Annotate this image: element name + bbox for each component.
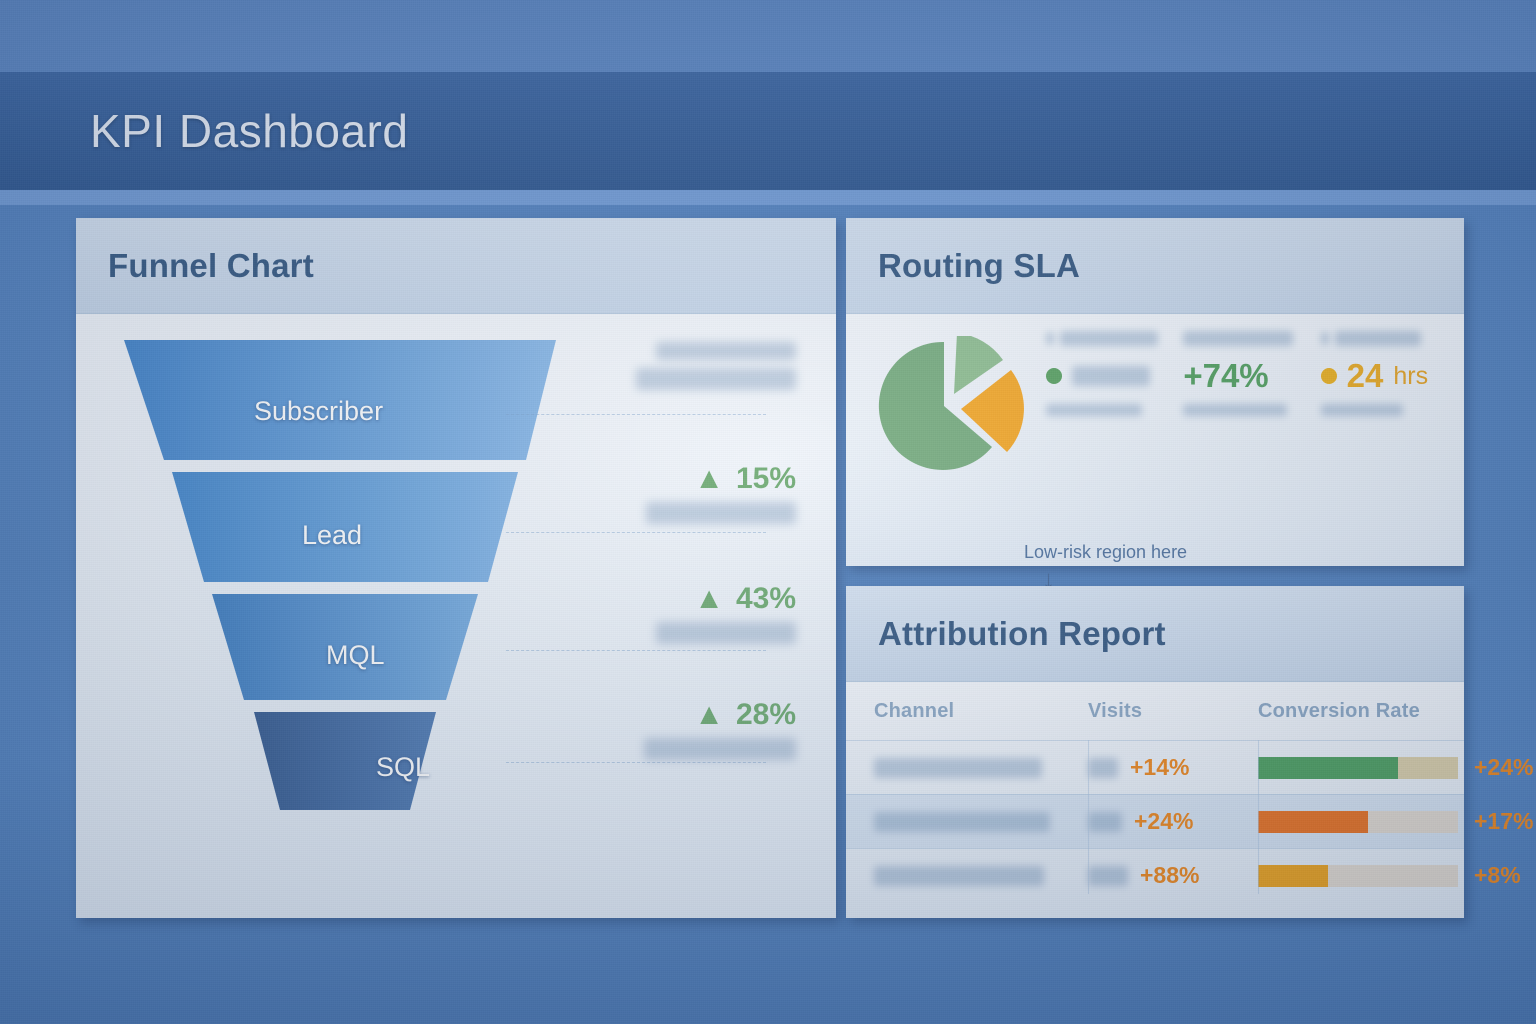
conversion-bar-track [1258,757,1458,779]
column-header-channel: Channel [874,700,1088,723]
leader-line-lead [506,532,766,533]
slide-canvas: KPI Dashboard Funnel Chart [0,0,1536,1024]
sla-panel-title: Routing SLA [878,247,1080,285]
visits-delta: +24% [1134,808,1193,835]
cell-conversion: +17% [1258,808,1533,835]
funnel-delta-value: 43% [736,582,796,616]
table-column-divider [1258,740,1259,894]
column-header-conversion: Conversion Rate [1258,700,1436,723]
funnel-delta-sql: ▲ 28% [496,698,796,732]
conversion-bar-fill [1258,757,1398,779]
cell-channel [874,758,1088,778]
attribution-table: Channel Visits Conversion Rate +14% [846,682,1464,902]
attribution-report-panel: Attribution Report Channel Visits Conver… [846,586,1464,918]
table-column-divider [1088,740,1089,894]
blurred-visits-count [1088,758,1118,778]
attribution-panel-title: Attribution Report [878,615,1166,653]
visits-delta: +14% [1130,754,1189,781]
leader-line-sql [506,762,766,763]
blurred-channel-name [874,812,1050,832]
conversion-delta: +8% [1474,862,1521,889]
routing-sla-panel: Routing SLA [846,218,1464,566]
blurred-metric-subtext [636,368,796,390]
funnel-segment-mql[interactable] [212,594,478,700]
sla-kpi-3: 24 hrs [1321,328,1446,416]
table-row[interactable]: +14% +24% [846,740,1464,794]
cell-visits: +14% [1088,754,1258,781]
status-dot-green-icon [1046,368,1062,384]
column-header-visits: Visits [1088,700,1258,723]
blurred-metric-text [656,342,796,360]
attribution-panel-body: Channel Visits Conversion Rate +14% [846,682,1464,918]
funnel-metric-lead: ▲ 15% [496,462,796,524]
funnel-panel-title: Funnel Chart [108,247,314,285]
blurred-metric-subtext [656,622,796,644]
funnel-delta-mql: ▲ 43% [496,582,796,616]
blurred-visits-count [1088,812,1122,832]
conversion-bar-fill [1258,811,1368,833]
visits-delta: +88% [1140,862,1199,889]
blurred-metric-subtext [644,738,796,760]
funnel-segment-sql[interactable] [254,712,436,810]
conversion-delta: +24% [1474,754,1533,781]
sla-kpi-1 [1046,328,1171,416]
blurred-kpi-label [1183,331,1293,346]
cell-conversion: +24% [1258,754,1533,781]
conversion-bar-fill [1258,865,1328,887]
blurred-channel-name [874,866,1044,886]
funnel-segment-subscriber[interactable] [124,340,556,460]
table-row[interactable]: +24% +17% [846,794,1464,848]
blurred-visits-count [1088,866,1128,886]
low-risk-annotation: Low-risk region here [1024,542,1187,563]
funnel-delta-lead: ▲ 15% [496,462,796,496]
blurred-kpi-caption [1046,404,1142,416]
sla-kpi-value-hours: 24 [1347,357,1384,395]
blurred-metric-subtext [646,502,796,524]
attribution-panel-header: Attribution Report [846,586,1464,682]
cell-conversion: +8% [1258,862,1521,889]
blurred-kpi-value [1072,366,1150,386]
leader-line-subscriber [506,414,766,415]
cell-visits: +88% [1088,862,1258,889]
blurred-kpi-label [1335,331,1421,346]
blurred-channel-name [874,758,1042,778]
sla-panel-header: Routing SLA [846,218,1464,314]
blurred-kpi-caption [1183,404,1287,416]
leader-line-mql [506,650,766,651]
sla-kpi-value-delta: +74% [1183,357,1268,395]
sla-kpi-2: +74% [1183,328,1308,416]
sla-kpi-unit: hrs [1393,362,1428,391]
arrow-up-icon: ▲ [694,582,724,616]
arrow-up-icon: ▲ [694,462,724,496]
conversion-bar-track [1258,865,1458,887]
funnel-metric-mql: ▲ 43% [496,582,796,644]
funnel-delta-value: 28% [736,698,796,732]
blurred-kpi-caption [1321,404,1403,416]
blurred-kpi-prefix [1046,332,1054,345]
table-row[interactable]: +88% +8% [846,848,1464,902]
blurred-kpi-prefix [1321,332,1329,345]
funnel-segment-lead[interactable] [172,472,518,582]
funnel-panel-body: Subscriber Lead MQL SQL ▲ 15% [76,314,836,918]
arrow-up-icon: ▲ [694,698,724,732]
blurred-kpi-label [1060,331,1158,346]
cell-channel [874,866,1088,886]
sla-panel-body: +74% 24 hrs Low-r [846,314,1464,566]
table-header-row: Channel Visits Conversion Rate [846,682,1464,740]
funnel-metric-sql: ▲ 28% [496,698,796,760]
conversion-bar-track [1258,811,1458,833]
funnel-delta-value: 15% [736,462,796,496]
cell-channel [874,812,1088,832]
funnel-panel-header: Funnel Chart [76,218,836,314]
sla-kpi-row: +74% 24 hrs [1046,328,1446,416]
funnel-chart-panel: Funnel Chart [76,218,836,918]
funnel-metric-subscriber [496,336,796,390]
sla-pie-chart[interactable] [874,336,1024,481]
conversion-delta: +17% [1474,808,1533,835]
cell-visits: +24% [1088,808,1258,835]
status-dot-amber-icon [1321,368,1337,384]
page-title: KPI Dashboard [90,104,408,158]
